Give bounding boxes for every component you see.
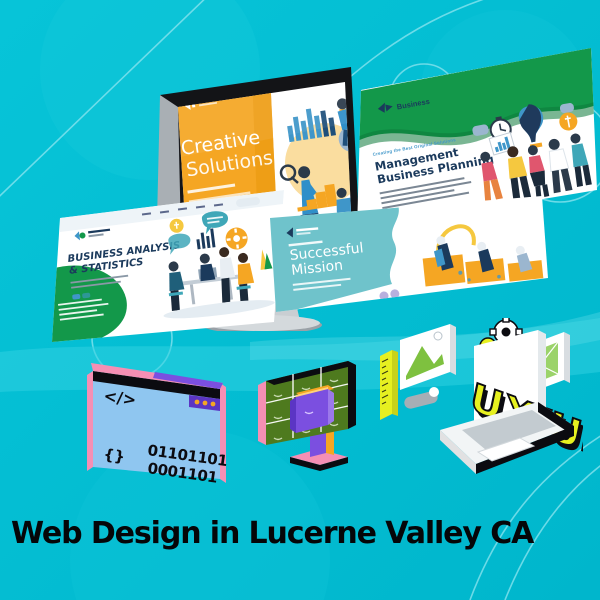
code-brace-glyph: {} <box>102 445 126 466</box>
poster-canvas: Creative Solutions <box>0 0 600 600</box>
ruler-icon <box>380 350 398 420</box>
image-icon <box>400 324 456 390</box>
file-cabinet-monitor <box>252 333 382 478</box>
code-window: </> {} 01101101 0001101 <box>85 355 230 490</box>
pill-icon <box>403 387 439 410</box>
business-analysis-panel: BUSINESS ANALYSIS & STATISTICS <box>46 182 296 348</box>
successful-mission-panel: Successful Mission <box>266 192 556 322</box>
uxui-laptop: UX/UI UX/UI <box>378 318 583 493</box>
page-title: Web Design in Lucerne Valley CA <box>11 519 533 550</box>
